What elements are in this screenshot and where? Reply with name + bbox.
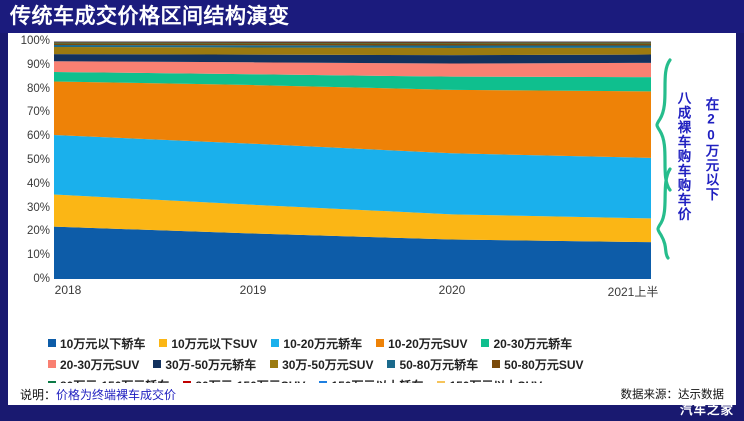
legend-item[interactable]: 30万-50万元轿车 bbox=[153, 356, 256, 373]
y-axis-tick: 70% bbox=[8, 106, 50, 118]
legend-label: 10-20万元SUV bbox=[388, 335, 467, 352]
legend-row: 20-30万元SUV30万-50万元轿车30万-50万元SUV50-80万元轿车… bbox=[48, 354, 698, 374]
legend-row: 10万元以下轿车10万元以下SUV10-20万元轿车10-20万元SUV20-3… bbox=[48, 333, 698, 353]
footer-note-label: 说明： bbox=[20, 388, 56, 402]
footer-note-value: 价格为终端裸车成交价 bbox=[56, 388, 176, 402]
legend-label: 10万元以下轿车 bbox=[60, 335, 145, 352]
legend-label: 50-80万元轿车 bbox=[399, 356, 478, 373]
legend-label: 30万-50万元SUV bbox=[282, 356, 373, 373]
annotation-line-1: 八成裸车购车购车价 bbox=[676, 91, 690, 222]
chart-card: 0%10%20%30%40%50%60%70%80%90%100% 201820… bbox=[8, 33, 736, 391]
y-axis-tick: 100% bbox=[8, 35, 50, 47]
legend-item[interactable]: 30万-50万元SUV bbox=[270, 356, 373, 373]
legend-label: 50-80万元SUV bbox=[504, 356, 583, 373]
legend-swatch-icon bbox=[271, 339, 279, 347]
legend-item[interactable]: 10万元以下SUV bbox=[159, 335, 257, 352]
annotation-line-2: 在20万元以下 bbox=[704, 97, 718, 202]
legend-swatch-icon bbox=[492, 360, 500, 368]
watermark: 汽车之家 bbox=[680, 399, 734, 418]
area-series bbox=[54, 42, 651, 43]
legend-label: 30万-50万元轿车 bbox=[165, 356, 256, 373]
x-axis-tick: 2020 bbox=[439, 283, 466, 297]
legend-item[interactable]: 50-80万元SUV bbox=[492, 356, 583, 373]
x-axis-tick: 2018 bbox=[55, 283, 82, 297]
legend-swatch-icon bbox=[387, 360, 395, 368]
green-brace-icon bbox=[654, 57, 676, 262]
plot-area bbox=[54, 41, 651, 279]
legend-label: 20-30万元轿车 bbox=[493, 335, 572, 352]
x-axis: 2018201920202021上半 bbox=[54, 283, 651, 303]
y-axis-tick: 50% bbox=[8, 154, 50, 166]
legend-swatch-icon bbox=[481, 339, 489, 347]
stacked-area-chart bbox=[54, 41, 651, 279]
y-axis-tick: 10% bbox=[8, 249, 50, 261]
area-series bbox=[54, 42, 651, 43]
legend-item[interactable]: 20-30万元SUV bbox=[48, 356, 139, 373]
legend-swatch-icon bbox=[376, 339, 384, 347]
chart-annotations: 八成裸车购车购车价 在20万元以下 bbox=[654, 39, 736, 289]
legend-swatch-icon bbox=[270, 360, 278, 368]
legend-item[interactable]: 10-20万元轿车 bbox=[271, 335, 362, 352]
legend-swatch-icon bbox=[48, 339, 56, 347]
page-title: 传统车成交价格区间结构演变 bbox=[10, 2, 744, 32]
y-axis: 0%10%20%30%40%50%60%70%80%90%100% bbox=[8, 41, 50, 279]
x-axis-tick: 2019 bbox=[240, 283, 267, 297]
legend-item[interactable]: 20-30万元轿车 bbox=[481, 335, 572, 352]
legend-item[interactable]: 10万元以下轿车 bbox=[48, 335, 145, 352]
y-axis-tick: 30% bbox=[8, 202, 50, 214]
legend-swatch-icon bbox=[153, 360, 161, 368]
y-axis-tick: 90% bbox=[8, 59, 50, 71]
y-axis-tick: 40% bbox=[8, 178, 50, 190]
legend-label: 10-20万元轿车 bbox=[283, 335, 362, 352]
legend-label: 20-30万元SUV bbox=[60, 356, 139, 373]
legend-item[interactable]: 10-20万元SUV bbox=[376, 335, 467, 352]
legend-item[interactable]: 50-80万元轿车 bbox=[387, 356, 478, 373]
title-bar: 传统车成交价格区间结构演变 bbox=[0, 0, 744, 33]
y-axis-tick: 0% bbox=[8, 273, 50, 285]
legend-swatch-icon bbox=[48, 360, 56, 368]
y-axis-tick: 60% bbox=[8, 130, 50, 142]
x-axis-tick: 2021上半 bbox=[608, 283, 659, 300]
legend-label: 10万元以下SUV bbox=[171, 335, 257, 352]
footer-note: 说明：价格为终端裸车成交价 bbox=[20, 386, 176, 403]
y-axis-tick: 20% bbox=[8, 225, 50, 237]
legend-swatch-icon bbox=[159, 339, 167, 347]
footer-note-row: 说明：价格为终端裸车成交价 数据来源：达示数据 bbox=[8, 383, 736, 405]
area-series bbox=[54, 47, 651, 55]
y-axis-tick: 80% bbox=[8, 83, 50, 95]
